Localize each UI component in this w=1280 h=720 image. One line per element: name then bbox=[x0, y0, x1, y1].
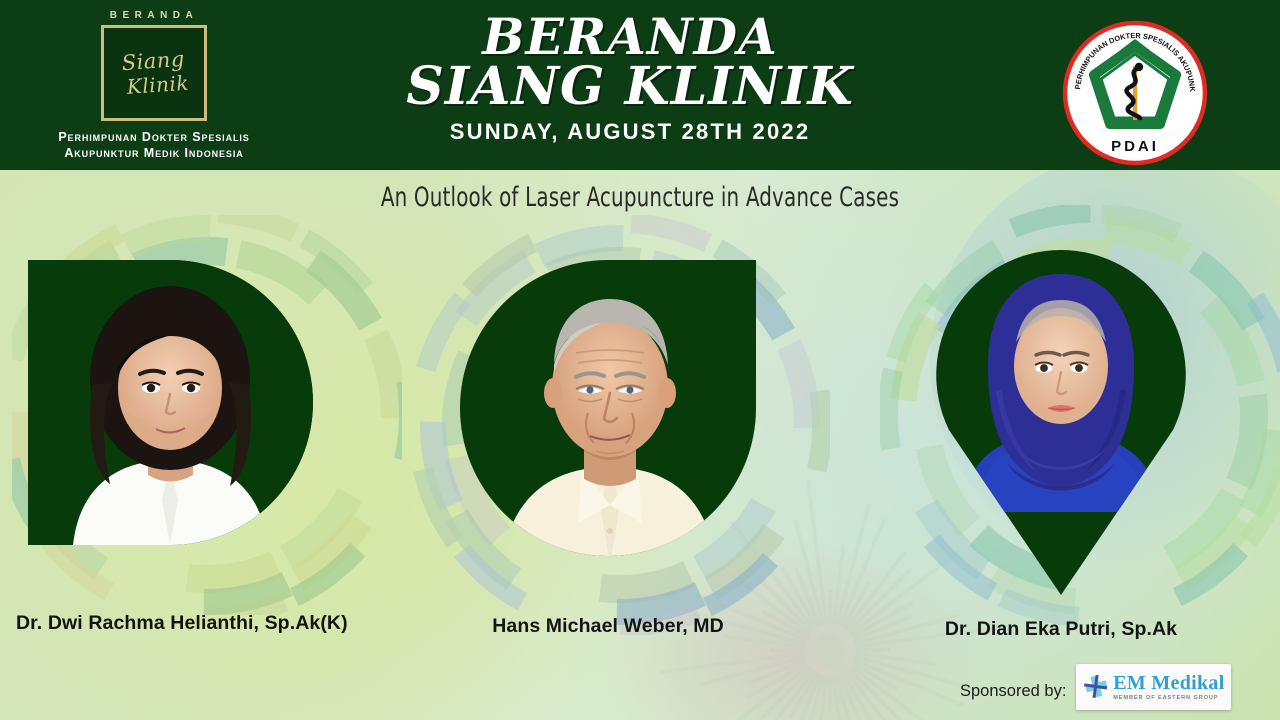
sponsor-label: Sponsored by: bbox=[960, 682, 1066, 701]
event-title-block: BERANDA SIANG KLINIK SUNDAY, AUGUST 28TH… bbox=[300, 2, 960, 145]
event-title-line2: SIANG KLINIK bbox=[300, 60, 960, 115]
event-title-line1: BERANDA bbox=[300, 12, 960, 62]
poster-root: BERANDA Siang Klinik Perhimpunan Dokter … bbox=[0, 0, 1280, 720]
brand-script-text: Siang Klinik bbox=[118, 48, 189, 99]
organization-name: Perhimpunan Dokter Spesialis Akupunktur … bbox=[20, 130, 288, 161]
speaker-card-2: Hans Michael Weber, MD bbox=[460, 255, 756, 565]
pdai-acronym: PDAI bbox=[1111, 138, 1159, 155]
speaker-name-2: Hans Michael Weber, MD bbox=[450, 615, 766, 638]
speaker-card-3: Dr. Dian Eka Putri, Sp.Ak bbox=[936, 250, 1186, 595]
session-title: An Outlook of Laser Acupuncture in Advan… bbox=[115, 182, 1165, 213]
brand-script-line2: Klinik bbox=[126, 73, 189, 98]
speaker-name-3: Dr. Dian Eka Putri, Sp.Ak bbox=[901, 618, 1221, 641]
speaker-name-1: Dr. Dwi Rachma Helianthi, Sp.Ak(K) bbox=[16, 612, 326, 635]
medical-cross-icon bbox=[1083, 674, 1109, 700]
speaker-photo-3 bbox=[936, 250, 1186, 595]
brand-logo-box: Siang Klinik bbox=[101, 25, 207, 121]
beranda-brand-logo: BERANDA Siang Klinik Perhimpunan Dokter … bbox=[20, 6, 288, 166]
organization-line-1: Perhimpunan Dokter Spesialis bbox=[20, 130, 288, 146]
em-medikal-text: EM Medikal MEMBER OF EASTERN GROUP bbox=[1113, 673, 1224, 702]
speaker-photo-1 bbox=[28, 260, 313, 560]
header-bar: BERANDA Siang Klinik Perhimpunan Dokter … bbox=[0, 0, 1280, 170]
sponsor-name: EM Medikal bbox=[1113, 673, 1224, 693]
em-medikal-logo[interactable]: EM Medikal MEMBER OF EASTERN GROUP bbox=[1076, 664, 1231, 710]
event-date: SUNDAY, AUGUST 28TH 2022 bbox=[300, 119, 960, 145]
pdai-logo: PERHIMPUNAN DOKTER SPESIALIS AKUPUNKTUR … bbox=[1060, 18, 1210, 168]
brand-top-label: BERANDA bbox=[20, 10, 288, 21]
organization-line-2: Akupunktur Medik Indonesia bbox=[20, 146, 288, 162]
speaker-photo-2 bbox=[460, 255, 756, 565]
speaker-card-1: Dr. Dwi Rachma Helianthi, Sp.Ak(K) bbox=[28, 260, 313, 560]
sponsor-tagline: MEMBER OF EASTERN GROUP bbox=[1113, 696, 1224, 702]
sponsor-block: Sponsored by: EM Medikal MEMBER OF EASTE… bbox=[960, 668, 1231, 714]
